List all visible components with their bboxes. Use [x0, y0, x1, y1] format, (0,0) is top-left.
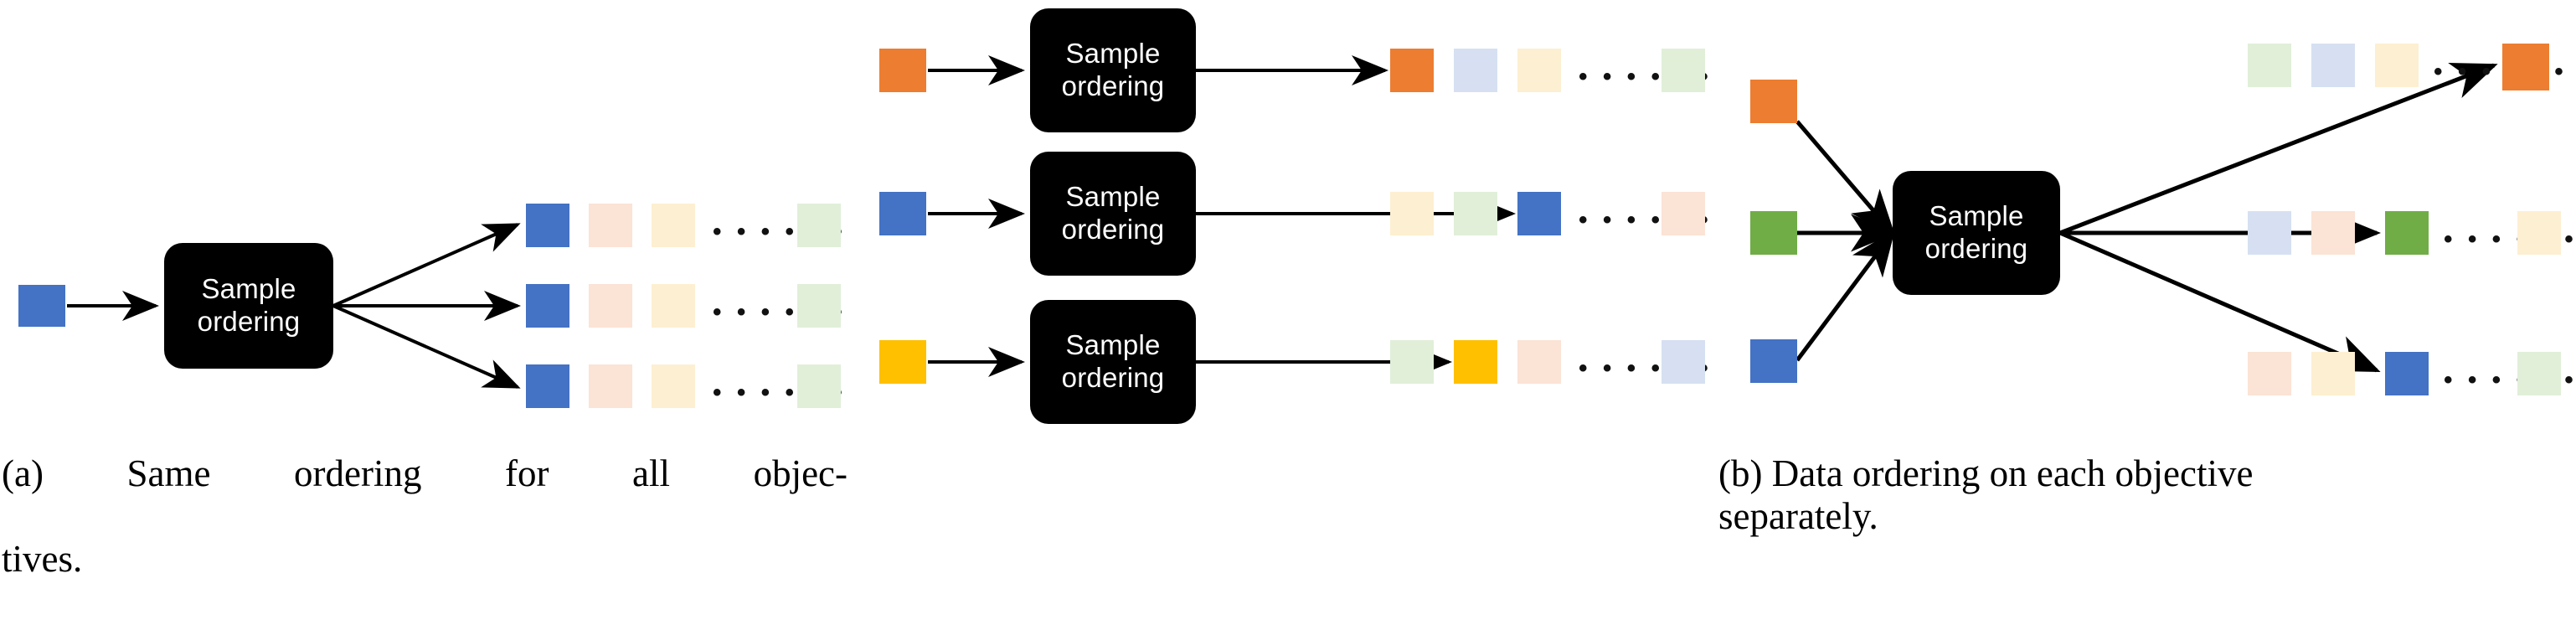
panel-a-row-2-cell-5	[797, 284, 841, 328]
panel-b-row-1-cell-1	[1390, 49, 1434, 92]
arrow-box-to-row-3	[333, 306, 518, 387]
arrow-c-box-to-row-1	[2060, 65, 2494, 233]
panel-c-row-1-cell-5	[2502, 44, 2549, 90]
panel-b-sample-ordering-box-2[interactable]: Sampleordering	[1030, 152, 1196, 276]
panel-b-row-2-cell-5	[1662, 192, 1705, 235]
panel-c-diagram: Sampleordering • • • • • • • • • • • • •…	[1715, 0, 2576, 444]
panel-b-row-1-cell-5	[1662, 49, 1705, 92]
panel-a-row-3-cell-1	[526, 364, 569, 408]
box-label-line1: Sample	[1065, 38, 1160, 69]
box-label-line2: ordering	[1925, 233, 2028, 264]
panel-b-box-3-label: Sampleordering	[1057, 329, 1170, 395]
box-label-line1: Sample	[1065, 181, 1160, 212]
panel-a-caption-line2: tives.	[2, 538, 848, 581]
arrow-box-to-row-1	[333, 225, 518, 306]
panel-b-box-2-label: Sampleordering	[1057, 181, 1170, 246]
box-label-line2: ordering	[1062, 362, 1165, 393]
panel-a-row-2-cell-1	[526, 284, 569, 328]
panel-c-row-3-cell-1	[2248, 352, 2291, 395]
panel-c-row-2-cell-1	[2248, 211, 2291, 255]
box-label-line1: Sample	[201, 273, 296, 304]
box-label-line2: ordering	[1062, 214, 1165, 245]
panel-b-row-2-cell-1	[1390, 192, 1434, 235]
panel-b-input-square-yellow	[879, 340, 926, 384]
panel-c-row-3-cell-2	[2311, 352, 2355, 395]
panel-c-row-2-cell-2	[2311, 211, 2355, 255]
panel-a: Sampleordering • • • • • • • • • • • • •…	[0, 0, 858, 620]
arrow-c-orange-to-box	[1797, 121, 1893, 233]
panel-b-sample-ordering-box-3[interactable]: Sampleordering	[1030, 300, 1196, 424]
panel-c-row-3-cell-5	[2517, 352, 2561, 395]
figure-root: Sampleordering • • • • • • • • • • • • •…	[0, 0, 2576, 620]
panel-a-row-2-cell-2	[589, 284, 632, 328]
panel-a-box-label: Sampleordering	[193, 273, 306, 338]
panel-c-input-square-blue	[1750, 339, 1797, 383]
panel-a-row-1-cell-1	[526, 204, 569, 247]
panel-a-caption-line1: (a) Same ordering for all objec-	[2, 452, 848, 538]
panel-a-row-3-cell-5	[797, 364, 841, 408]
panel-c-row-1-cell-3	[2375, 44, 2419, 87]
panel-c-sample-ordering-box[interactable]: Sampleordering	[1893, 171, 2060, 295]
panel-c-row-2-cell-3	[2385, 211, 2429, 255]
panel-b-diagram: Sampleordering Sampleordering Sampleorde…	[858, 0, 1715, 444]
panel-c-row-1-cell-1	[2248, 44, 2291, 87]
box-label-line2: ordering	[198, 306, 301, 337]
panel-c-row-3-cell-3	[2385, 352, 2429, 395]
panel-c-input-square-orange	[1750, 80, 1797, 123]
panel-a-diagram: Sampleordering • • • • • • • • • • • • •…	[0, 0, 858, 444]
panel-b-sample-ordering-box-1[interactable]: Sampleordering	[1030, 8, 1196, 132]
box-label-line2: ordering	[1062, 70, 1165, 101]
box-label-line1: Sample	[1929, 200, 2023, 231]
box-label-line1: Sample	[1065, 329, 1160, 360]
panel-c: Sampleordering • • • • • • • • • • • • •…	[1715, 0, 2576, 620]
panel-b-row-1-cell-2	[1454, 49, 1497, 92]
panel-a-row-3-cell-3	[652, 364, 695, 408]
panel-a-row-1-cell-3	[652, 204, 695, 247]
panel-a-caption: (a) Same ordering for all objec- tives.	[2, 452, 848, 581]
panel-a-row-3-cell-2	[589, 364, 632, 408]
panel-b-input-square-orange	[879, 49, 926, 92]
panel-b-row-3-cell-3	[1517, 340, 1561, 384]
panel-b-row-2-cell-2	[1454, 192, 1497, 235]
panel-c-box-label: Sampleordering	[1920, 200, 2033, 266]
panel-b-row-1-cell-3	[1517, 49, 1561, 92]
panel-b-row-2-cell-3	[1517, 192, 1561, 235]
panel-b-row-3-cell-2	[1454, 340, 1497, 384]
panel-a-row-1-cell-2	[589, 204, 632, 247]
panel-b-input-square-blue	[879, 192, 926, 235]
panel-b-row-3-cell-1	[1390, 340, 1434, 384]
panel-a-row-1-cell-5	[797, 204, 841, 247]
panel-b-box-1-label: Sampleordering	[1057, 38, 1170, 103]
panel-c-row-2-cell-5	[2517, 211, 2561, 255]
panel-c-row-1-cell-2	[2311, 44, 2355, 87]
panel-c-input-square-green	[1750, 211, 1797, 255]
panel-b: Sampleordering Sampleordering Sampleorde…	[858, 0, 1715, 620]
panel-a-input-square-blue	[18, 285, 65, 327]
arrow-c-blue-to-box	[1797, 233, 1893, 360]
panel-a-sample-ordering-box[interactable]: Sampleordering	[164, 243, 333, 369]
panel-b-row-3-cell-5	[1662, 340, 1705, 384]
panel-a-row-2-cell-3	[652, 284, 695, 328]
